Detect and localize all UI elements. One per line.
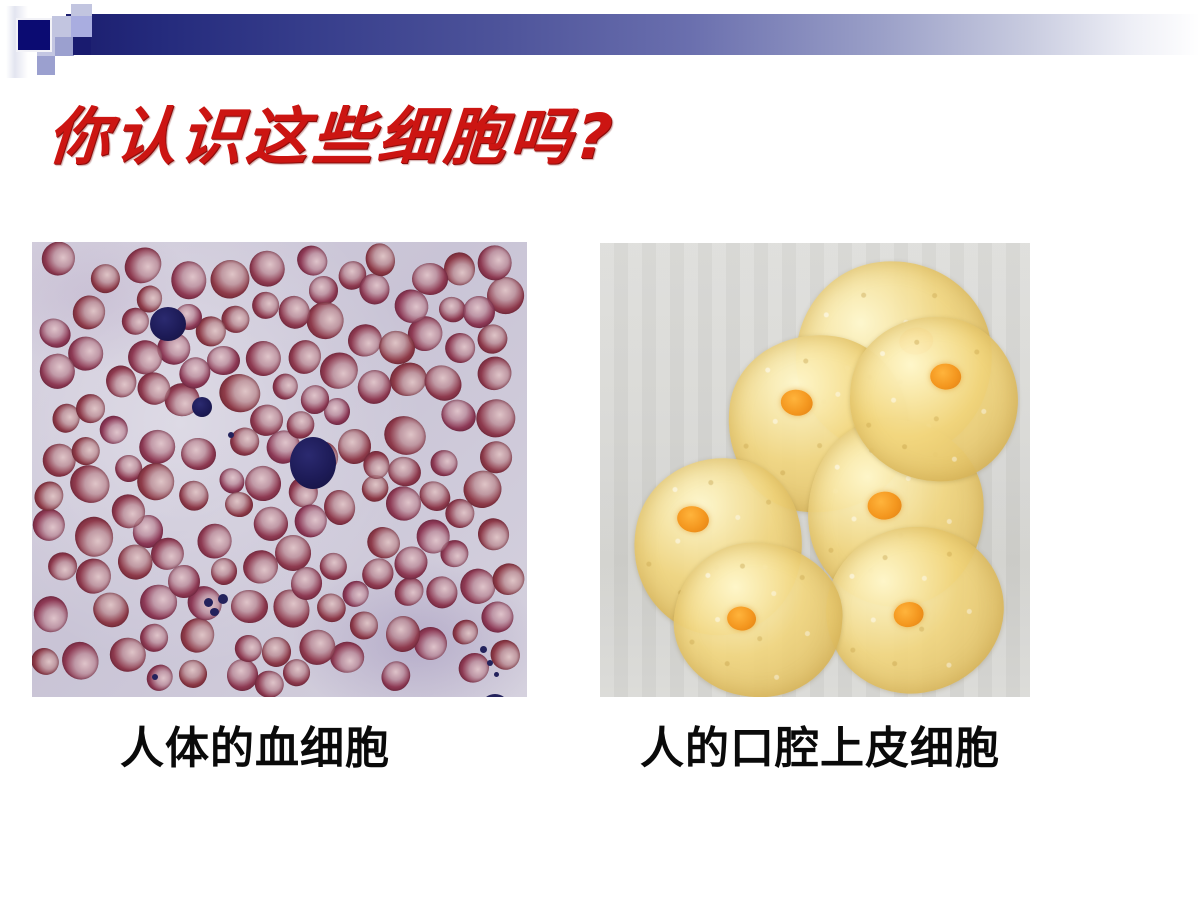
platelet bbox=[494, 672, 499, 677]
header-square-light-5 bbox=[55, 37, 74, 56]
header-square-light-2 bbox=[52, 16, 72, 37]
caption-oral-epithelial-cells: 人的口腔上皮细胞 bbox=[640, 712, 1000, 776]
caption-blood-cells: 人体的血细胞 bbox=[120, 712, 390, 776]
platelet bbox=[210, 608, 219, 616]
red-blood-cell bbox=[349, 611, 378, 639]
white-blood-cell bbox=[192, 397, 212, 417]
slide-header-decoration bbox=[0, 0, 1200, 95]
header-square-light-6 bbox=[37, 56, 55, 75]
blood-cells-micrograph bbox=[32, 242, 527, 697]
header-square-light-3 bbox=[71, 16, 92, 37]
platelet bbox=[487, 660, 493, 666]
figure-blood-cells bbox=[32, 242, 527, 697]
oral-epithelial-micrograph bbox=[600, 243, 1030, 697]
platelet bbox=[152, 674, 158, 680]
platelet bbox=[480, 646, 487, 653]
header-square-dark-accent bbox=[16, 18, 52, 52]
white-blood-cell bbox=[290, 437, 336, 489]
red-blood-cell bbox=[207, 346, 240, 375]
white-blood-cell bbox=[150, 307, 186, 341]
page-title: 你认识这些细胞吗? bbox=[46, 104, 619, 169]
header-gradient-bar bbox=[66, 14, 1200, 55]
platelet bbox=[218, 594, 228, 604]
platelet bbox=[204, 598, 213, 607]
header-square-navy-accent bbox=[73, 37, 91, 55]
platelet bbox=[228, 432, 234, 438]
figure-oral-epithelial-cells bbox=[600, 243, 1030, 697]
